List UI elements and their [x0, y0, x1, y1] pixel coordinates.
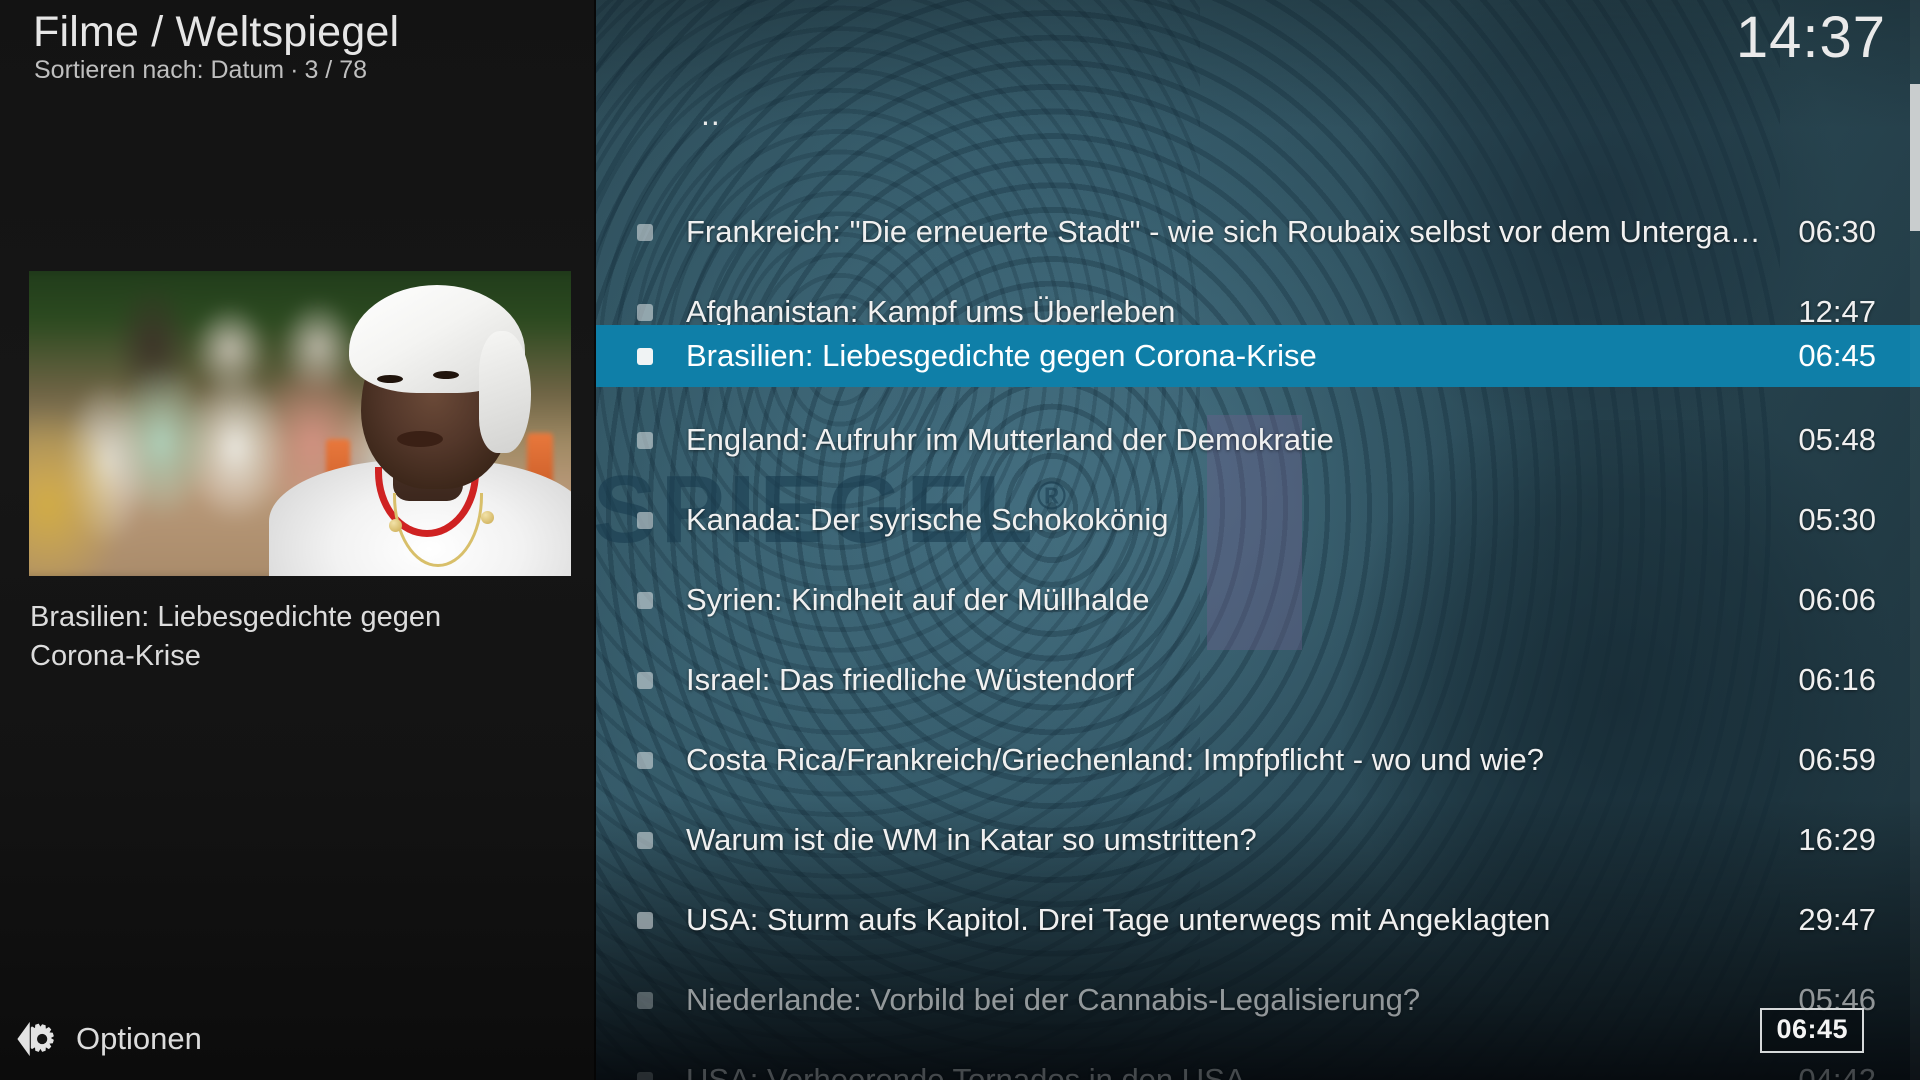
item-bullet-icon	[637, 992, 653, 1009]
portrait-mouth	[397, 431, 443, 447]
list-item[interactable]: Kanada: Der syrische Schokokönig 05:30	[596, 489, 1920, 551]
thumbnail	[29, 271, 571, 576]
item-title: England: Aufruhr im Mutterland der Demok…	[686, 422, 1776, 458]
item-bullet-icon	[637, 304, 653, 321]
list-item[interactable]: Niederlande: Vorbild bei der Cannabis-Le…	[596, 969, 1920, 1031]
item-duration: 05:30	[1736, 502, 1876, 538]
selected-duration-badge: 06:45	[1760, 1008, 1864, 1053]
item-duration: 06:30	[1736, 214, 1876, 250]
item-title: Costa Rica/Frankreich/Griechenland: Impf…	[686, 742, 1776, 778]
clock: 14:37	[1736, 4, 1886, 71]
item-title: Warum ist die WM in Katar so umstritten?	[686, 822, 1776, 858]
item-bullet-icon	[637, 432, 653, 449]
list-scrollbar-thumb[interactable]	[1910, 84, 1920, 231]
portrait-necklace-bead	[481, 511, 494, 524]
page-title: Filme / Weltspiegel	[33, 8, 399, 57]
item-duration: 06:06	[1736, 582, 1876, 618]
item-duration: 06:59	[1736, 742, 1876, 778]
list-item-parent[interactable]: ..	[596, 98, 1920, 142]
list-item-selected[interactable]: Brasilien: Liebesgedichte gegen Corona-K…	[596, 325, 1920, 387]
item-duration: 04:42	[1736, 1062, 1876, 1080]
list-item[interactable]: Syrien: Kindheit auf der Müllhalde 06:06	[596, 569, 1920, 631]
subtitle-separator: ·	[284, 56, 304, 84]
item-bullet-icon	[637, 752, 653, 769]
item-title: Syrien: Kindheit auf der Müllhalde	[686, 582, 1776, 618]
thumbnail-caption: Brasilien: Liebesgedichte gegen Corona-K…	[30, 598, 500, 675]
list-item[interactable]: USA: Verheerende Tornados in den USA 04:…	[596, 1049, 1920, 1080]
parent-directory-label: ..	[701, 98, 721, 130]
item-bullet-icon	[637, 1072, 653, 1080]
item-bullet-icon	[637, 912, 653, 929]
options-label: Optionen	[76, 1021, 202, 1057]
portrait-necklace-bead	[389, 519, 402, 532]
item-title: Kanada: Der syrische Schokokönig	[686, 502, 1776, 538]
item-title: USA: Verheerende Tornados in den USA	[686, 1062, 1776, 1080]
item-title: Israel: Das friedliche Wüstendorf	[686, 662, 1776, 698]
media-list[interactable]: .. Frankreich: "Die erneuerte Stadt" - w…	[596, 0, 1920, 1080]
options-bar: Optionen	[0, 988, 596, 1080]
item-title: Frankreich: "Die erneuerte Stadt" - wie …	[686, 214, 1776, 250]
item-title: Brasilien: Liebesgedichte gegen Corona-K…	[686, 338, 1776, 374]
item-duration: 06:16	[1736, 662, 1876, 698]
list-item[interactable]: Frankreich: "Die erneuerte Stadt" - wie …	[596, 201, 1920, 263]
sort-label: Sortieren nach: Datum	[34, 56, 284, 84]
item-bullet-icon	[637, 592, 653, 609]
list-item[interactable]: Israel: Das friedliche Wüstendorf 06:16	[596, 649, 1920, 711]
item-title: USA: Sturm aufs Kapitol. Drei Tage unter…	[686, 902, 1776, 938]
list-item[interactable]: USA: Sturm aufs Kapitol. Drei Tage unter…	[596, 889, 1920, 951]
list-item[interactable]: Costa Rica/Frankreich/Griechenland: Impf…	[596, 729, 1920, 791]
thumbnail-portrait	[257, 271, 571, 576]
item-duration: 29:47	[1736, 902, 1876, 938]
item-bullet-icon	[637, 832, 653, 849]
kodi-media-browser: TSPIEGEL® .. Frankreich: "Die erneuerte …	[0, 0, 1920, 1080]
item-bullet-icon	[637, 672, 653, 689]
portrait-eye-left	[377, 375, 403, 383]
item-bullet-icon	[637, 348, 653, 365]
item-duration: 05:48	[1736, 422, 1876, 458]
sort-and-position-info: Sortieren nach: Datum·3 / 78	[34, 56, 367, 85]
item-duration: 06:45	[1736, 338, 1876, 374]
item-bullet-icon	[637, 224, 653, 241]
list-item[interactable]: England: Aufruhr im Mutterland der Demok…	[596, 409, 1920, 471]
portrait-eye-right	[433, 371, 459, 379]
options-button[interactable]: Optionen	[14, 1012, 202, 1066]
item-bullet-icon	[637, 512, 653, 529]
item-duration: 16:29	[1736, 822, 1876, 858]
info-sidebar: Filme / Weltspiegel Sortieren nach: Datu…	[0, 0, 596, 1080]
item-position: 3 / 78	[304, 56, 367, 84]
item-title: Niederlande: Vorbild bei der Cannabis-Le…	[686, 982, 1776, 1018]
gear-icon	[14, 1019, 56, 1059]
list-item[interactable]: Warum ist die WM in Katar so umstritten?…	[596, 809, 1920, 871]
